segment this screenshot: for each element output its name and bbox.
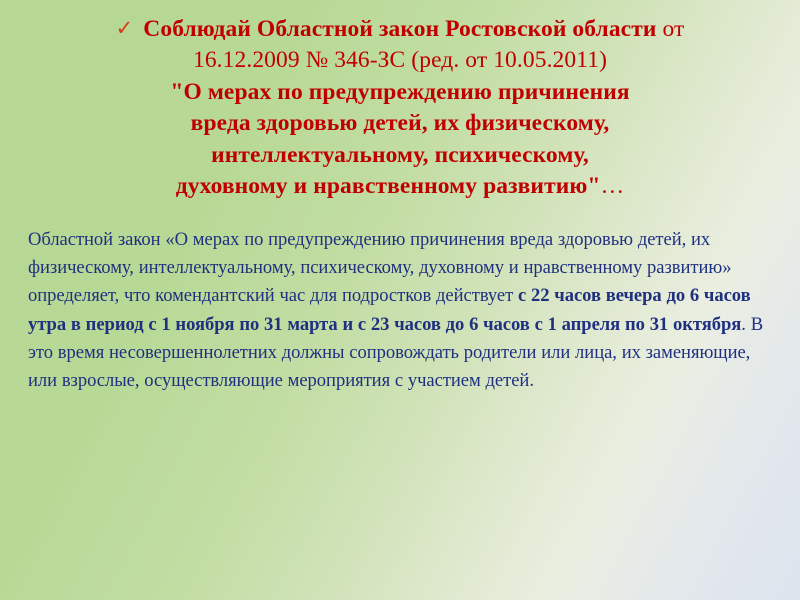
- title-line-6-bold: духовному и нравственному развитию": [176, 173, 601, 199]
- title-line-3: "О мерах по предупреждению причинения: [40, 77, 760, 108]
- title-line-2: 16.12.2009 № 346-ЗС (ред. от 10.05.2011): [40, 45, 760, 76]
- title-line-6: духовному и нравственному развитию"…: [40, 171, 760, 202]
- slide-canvas: ✓Соблюдай Областной закон Ростовской обл…: [0, 0, 800, 600]
- title-line-1-bold: Соблюдай Областной закон Ростовской обла…: [143, 16, 656, 42]
- title-line-5-bold: интеллектуальному, психическому,: [211, 142, 589, 168]
- slide-title: ✓Соблюдай Областной закон Ростовской обл…: [40, 14, 760, 202]
- title-line-1: ✓Соблюдай Областной закон Ростовской обл…: [40, 14, 760, 45]
- body-paragraph: Областной закон «О мерах по предупрежден…: [28, 226, 772, 395]
- title-line-2-plain: 16.12.2009 № 346-ЗС (ред. от 10.05.2011): [193, 47, 607, 73]
- title-line-5: интеллектуальному, психическому,: [40, 140, 760, 171]
- title-line-6-plain: …: [601, 173, 625, 199]
- title-line-4: вреда здоровью детей, их физическому,: [40, 108, 760, 139]
- title-line-3-bold: "О мерах по предупреждению причинения: [170, 79, 629, 105]
- checkmark-icon: ✓: [116, 18, 134, 39]
- title-line-1-plain: от: [657, 16, 685, 42]
- title-line-4-bold: вреда здоровью детей, их физическому,: [191, 110, 610, 136]
